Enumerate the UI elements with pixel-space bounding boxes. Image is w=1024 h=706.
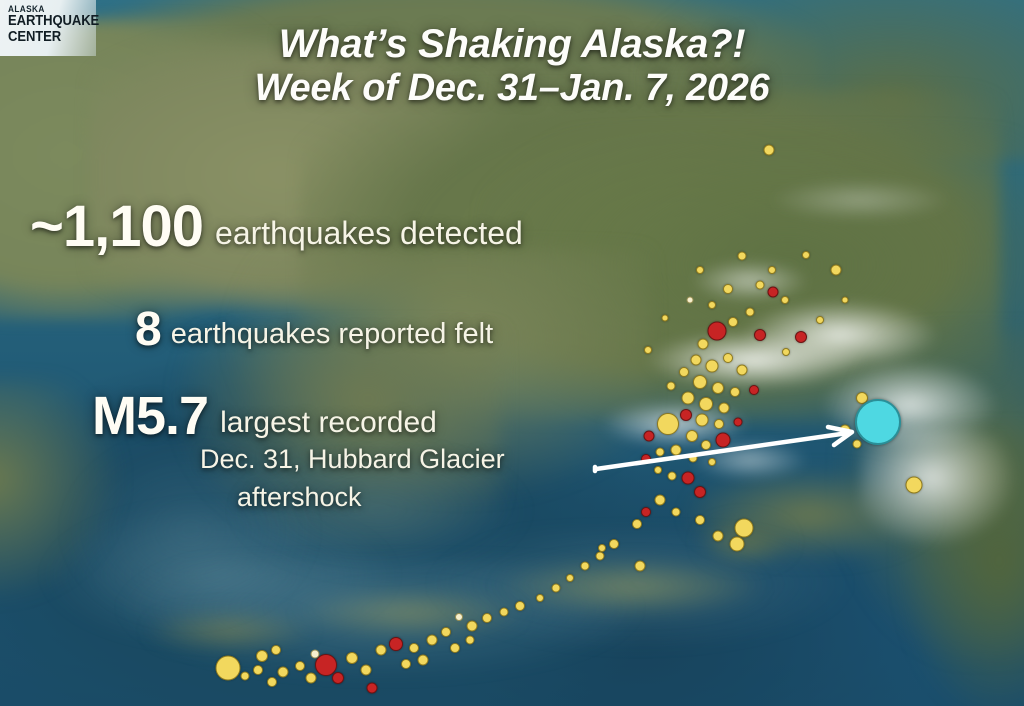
quake-dot (719, 403, 730, 414)
quake-dot (816, 316, 824, 324)
quake-dot (427, 635, 438, 646)
quake-dot (734, 418, 743, 427)
quake-dot (695, 515, 705, 525)
quake-dot (441, 627, 451, 637)
quake-dot (278, 667, 289, 678)
quake-dot (680, 409, 692, 421)
quake-dot (267, 677, 277, 687)
quake-dot (737, 365, 748, 376)
quake-dot (698, 339, 709, 350)
stat-detected: ~1,100earthquakes detected (30, 193, 523, 260)
quake-dot (401, 659, 411, 669)
quake-dot (609, 539, 619, 549)
stat-largest-value: M5.7 (92, 386, 208, 446)
quake-dot (641, 507, 651, 517)
stat-felt-value: 8 (135, 303, 161, 356)
quake-dot (216, 656, 241, 681)
quake-dot (714, 419, 724, 429)
quake-dot (693, 375, 707, 389)
stat-felt: 8earthquakes reported felt (135, 302, 493, 357)
quake-dot (831, 265, 842, 276)
quake-dot (656, 448, 665, 457)
quake-dot (730, 387, 740, 397)
quake-dot (241, 672, 250, 681)
quake-dot (311, 650, 320, 659)
quake-dot (764, 145, 775, 156)
quake-dot (455, 613, 463, 621)
quake-dot (581, 562, 590, 571)
quake-dot (552, 584, 561, 593)
quake-dot (598, 544, 606, 552)
quake-dot (482, 613, 492, 623)
quake-dot (756, 281, 765, 290)
quake-dot (418, 655, 429, 666)
quake-dot (332, 672, 344, 684)
quake-dot (696, 414, 709, 427)
quake-dot (699, 397, 713, 411)
quake-dot (361, 665, 372, 676)
quake-dot (668, 472, 677, 481)
quake-dot (306, 673, 317, 684)
quake-dot (723, 284, 733, 294)
quake-dot (654, 466, 662, 474)
quake-dot (657, 413, 679, 435)
quake-dot (696, 266, 704, 274)
alaska-earthquake-center-logo: ALASKA EARTHQUAKE CENTER (0, 0, 96, 56)
quake-dot (708, 322, 727, 341)
quake-dot (768, 266, 776, 274)
quake-dot (749, 385, 759, 395)
quake-dot (686, 430, 698, 442)
quake-dot (906, 477, 923, 494)
quake-dot (795, 331, 807, 343)
quake-dot (367, 683, 378, 694)
mainshock-marker[interactable] (855, 399, 901, 445)
stat-largest-label: largest recorded (220, 406, 437, 439)
logo-line-center: CENTER (8, 30, 80, 46)
quake-dot (376, 645, 387, 656)
quake-dot (840, 425, 851, 436)
stat-largest-detail-line-1: Dec. 31, Hubbard Glacier (200, 444, 505, 475)
quake-dot (500, 608, 509, 617)
quake-dot (682, 392, 695, 405)
quake-dot (467, 621, 478, 632)
quake-dot (596, 552, 605, 561)
quake-dot (689, 454, 698, 463)
stat-largest-detail-1-text: Dec. 31, Hubbard Glacier (200, 444, 505, 474)
quake-dot (708, 301, 716, 309)
quake-dot (409, 643, 419, 653)
quake-dot (712, 382, 724, 394)
quake-dot (635, 561, 646, 572)
quake-dot (746, 308, 755, 317)
quake-dot (389, 637, 403, 651)
quake-dot (730, 537, 745, 552)
quake-dot (842, 297, 849, 304)
quake-dot (632, 519, 642, 529)
quake-dot (754, 329, 766, 341)
quake-dot (708, 458, 716, 466)
quake-dot (450, 643, 460, 653)
quake-dot (271, 645, 281, 655)
logo-line-earthquake: EARTHQUAKE (8, 14, 80, 30)
quake-dot (687, 297, 694, 304)
quake-dot (672, 508, 681, 517)
quake-dot (515, 601, 525, 611)
quake-dot (723, 353, 733, 363)
quake-dot (644, 431, 655, 442)
stat-largest-detail-line-2: aftershock (237, 482, 362, 513)
quake-dot (566, 574, 574, 582)
quake-dot (706, 360, 719, 373)
quake-dot (701, 440, 711, 450)
quake-dot (644, 346, 652, 354)
quake-dot (782, 348, 790, 356)
quake-dot (466, 636, 475, 645)
quake-dot (713, 531, 724, 542)
quake-dot (536, 594, 544, 602)
infographic-canvas: ALASKA EARTHQUAKE CENTER What’s Shaking … (0, 0, 1024, 706)
quake-dot (735, 519, 754, 538)
quake-dot (768, 287, 779, 298)
quake-dot (679, 367, 689, 377)
stat-felt-label: earthquakes reported felt (171, 318, 493, 350)
quake-dot (671, 445, 682, 456)
quake-dot (641, 454, 651, 464)
quake-dot (256, 650, 268, 662)
quake-dot (346, 652, 358, 664)
quake-dot (667, 382, 676, 391)
quake-dot (716, 433, 731, 448)
quake-dot (662, 315, 669, 322)
quake-dot (655, 495, 666, 506)
quake-dot (691, 355, 702, 366)
stat-largest: M5.7largest recorded (92, 385, 437, 447)
stat-largest-detail-2-text: aftershock (237, 482, 362, 512)
quake-dot (728, 317, 738, 327)
quake-dot (738, 252, 747, 261)
quake-dot (253, 665, 263, 675)
quake-dot (781, 296, 789, 304)
quake-dot (295, 661, 305, 671)
quake-dot (682, 472, 695, 485)
quake-dot (694, 486, 706, 498)
stat-detected-label: earthquakes detected (215, 215, 523, 251)
quake-dot (853, 440, 862, 449)
stat-detected-value: ~1,100 (30, 194, 203, 259)
quake-dot (802, 251, 810, 259)
